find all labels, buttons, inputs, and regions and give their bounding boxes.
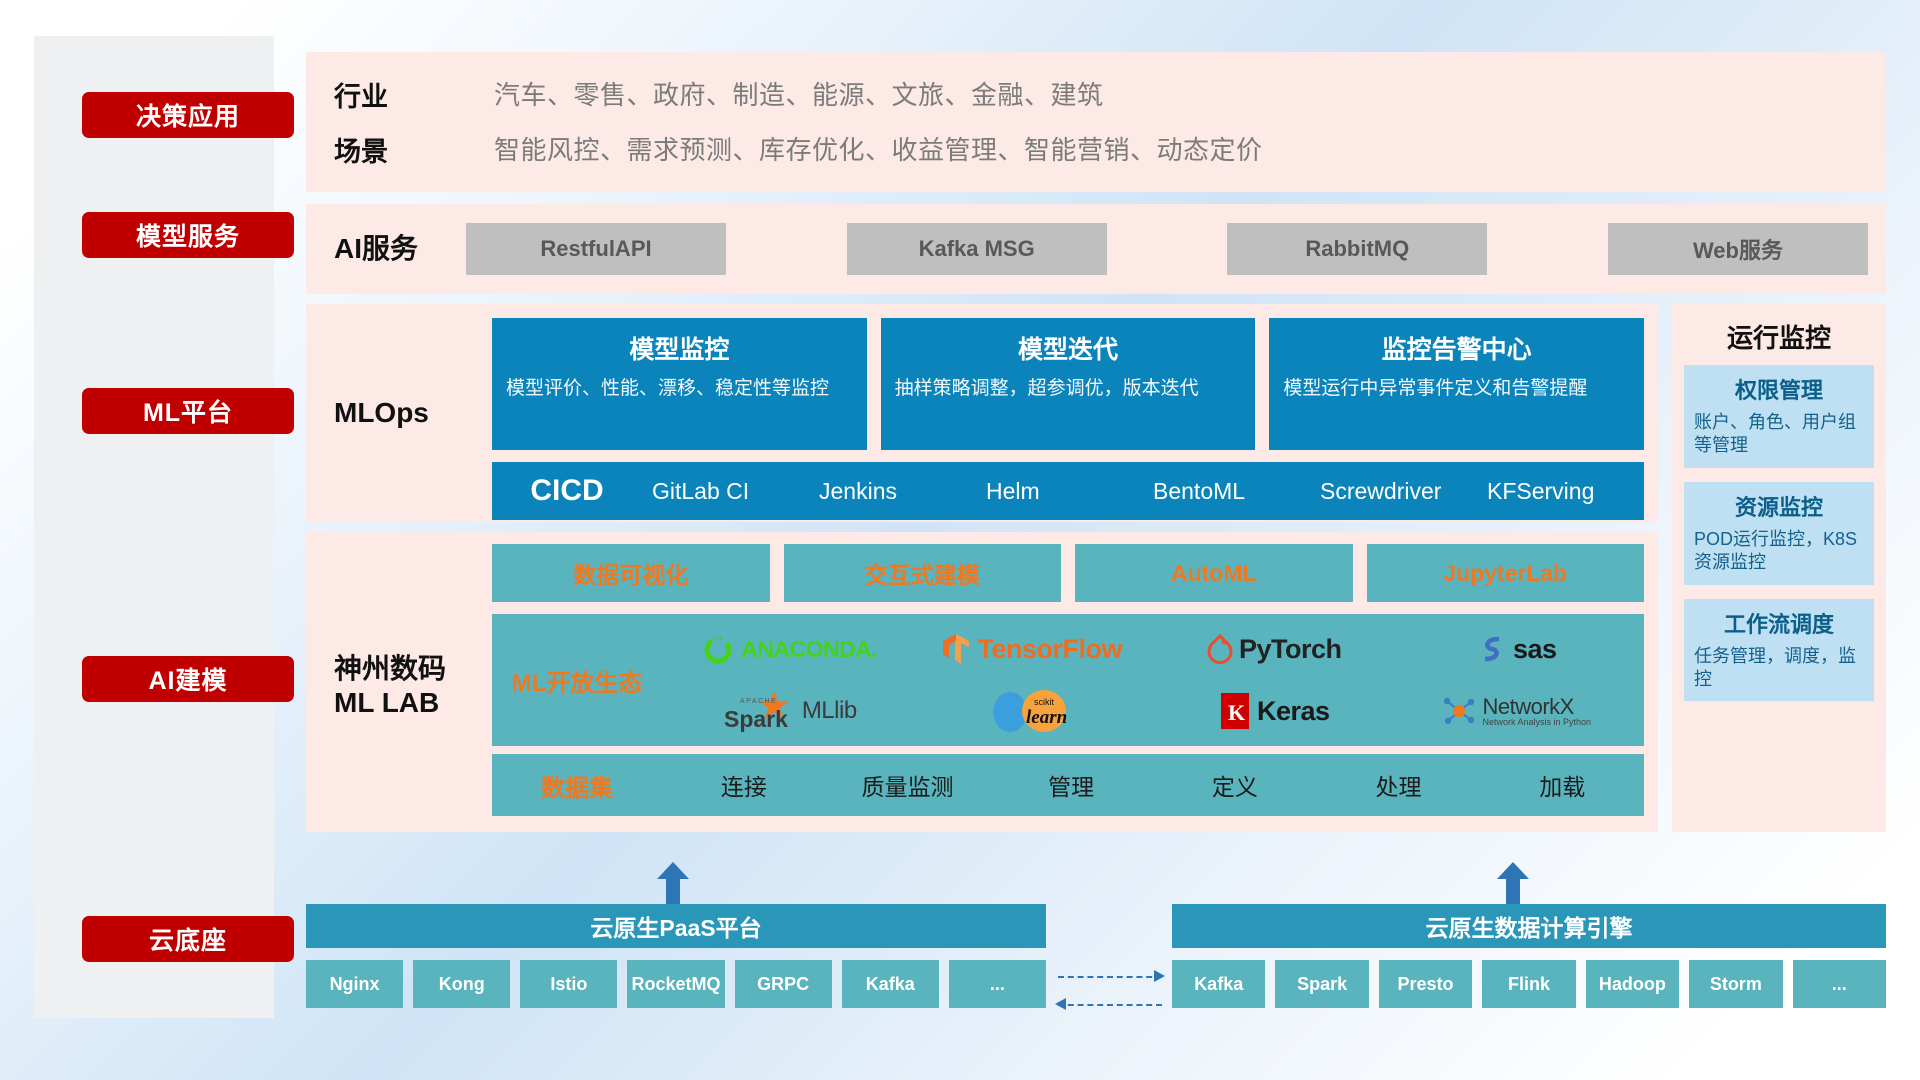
stage-chip-cloudbase[interactable]: 云底座 (82, 916, 294, 962)
engine-tag-kafka[interactable]: Kafka (1172, 960, 1265, 1008)
arrow-up-paas-icon (656, 862, 690, 904)
paas-tag-kafka[interactable]: Kafka (842, 960, 939, 1008)
arrow-up-engine-icon (1496, 862, 1530, 904)
paas-tag-kong[interactable]: Kong (413, 960, 510, 1008)
anaconda-icon (701, 632, 735, 666)
card-desc: 模型评价、性能、漂移、稳定性等监控 (506, 376, 853, 402)
svg-text:APACHE: APACHE (740, 698, 777, 705)
card-desc: 模型运行中异常事件定义和告警提醒 (1283, 376, 1630, 402)
arrowhead-right-icon (1154, 970, 1166, 982)
band-ml-lab: 神州数码 ML LAB 数据可视化 交互式建模 AutoML JupyterLa… (306, 532, 1658, 832)
card-title: 资源监控 (1694, 490, 1864, 522)
sas-logo: sas (1477, 633, 1557, 665)
mlops-card-alert-center[interactable]: 监控告警中心 模型运行中异常事件定义和告警提醒 (1269, 318, 1644, 450)
paas-tag-istio[interactable]: Istio (520, 960, 617, 1008)
cloud-paas-bar[interactable]: 云原生PaaS平台 (306, 904, 1046, 948)
engine-tag-flink[interactable]: Flink (1482, 960, 1575, 1008)
tensorflow-text: TensorFlow (977, 634, 1122, 665)
monitor-card-workflow[interactable]: 工作流调度 任务管理，调度，监控 (1684, 599, 1874, 702)
lab-chip-automl[interactable]: AutoML (1075, 544, 1353, 602)
networkx-text: NetworkX (1482, 696, 1591, 718)
card-desc: 抽样策略调整，超参调优，版本迭代 (895, 376, 1242, 402)
scikit-learn-icon: scikit learn (986, 688, 1078, 734)
industry-key: 行业 (334, 75, 494, 114)
monitor-card-permission[interactable]: 权限管理 账户、角色、用户组等管理 (1684, 365, 1874, 468)
service-web[interactable]: Web服务 (1608, 223, 1868, 275)
cicd-bar: CICD GitLab CI Jenkins Helm BentoML Scre… (492, 462, 1644, 520)
cicd-item-kfserving[interactable]: KFServing (1477, 479, 1644, 503)
dataset-item-manage[interactable]: 管理 (989, 768, 1153, 802)
band-mlops: MLOps 模型监控 模型评价、性能、漂移、稳定性等监控 模型迭代 抽样策略调整… (306, 304, 1658, 522)
engine-tag-storm[interactable]: Storm (1689, 960, 1782, 1008)
engine-tag-presto[interactable]: Presto (1379, 960, 1472, 1008)
runtime-monitoring-column: 运行监控 权限管理 账户、角色、用户组等管理 资源监控 POD运行监控，K8S资… (1672, 304, 1886, 832)
svg-text:learn: learn (1026, 707, 1067, 728)
dataset-item-load[interactable]: 加载 (1480, 768, 1644, 802)
paas-tag-grpc[interactable]: GRPC (735, 960, 832, 1008)
tensorflow-logo: TensorFlow (941, 632, 1122, 666)
band-industry-scenario: 行业 汽车、零售、政府、制造、能源、文旅、金融、建筑 场景 智能风控、需求预测、… (306, 52, 1886, 192)
mlops-card-model-monitoring[interactable]: 模型监控 模型评价、性能、漂移、稳定性等监控 (492, 318, 867, 450)
card-title: 模型迭代 (895, 330, 1242, 366)
keras-logo: K Keras (1219, 691, 1330, 731)
svg-text:Spark: Spark (724, 706, 788, 732)
engine-tag-spark[interactable]: Spark (1275, 960, 1368, 1008)
lab-chip-data-viz[interactable]: 数据可视化 (492, 544, 770, 602)
engine-tag-row: Kafka Spark Presto Flink Hadoop Storm ..… (1172, 960, 1886, 1008)
pytorch-logo: PyTorch (1207, 633, 1342, 665)
spark-icon: APACHE Spark (722, 689, 796, 733)
networkx-icon (1442, 694, 1476, 728)
card-desc: POD运行监控，K8S资源监控 (1694, 528, 1864, 575)
dataset-item-quality[interactable]: 质量监测 (826, 768, 990, 802)
spark-mllib-logo: APACHE Spark MLlib (722, 689, 857, 733)
keras-text: Keras (1257, 696, 1330, 727)
ai-service-label: AI服务 (306, 232, 466, 266)
paas-tag-row: Nginx Kong Istio RocketMQ GRPC Kafka ... (306, 960, 1046, 1008)
cicd-item-jenkins[interactable]: Jenkins (809, 479, 976, 503)
dataset-item-process[interactable]: 处理 (1317, 768, 1481, 802)
service-kafka-msg[interactable]: Kafka MSG (847, 223, 1107, 275)
svg-text:K: K (1228, 700, 1245, 725)
dataset-item-define[interactable]: 定义 (1153, 768, 1317, 802)
cloud-base-section: 云原生PaaS平台 云原生数据计算引擎 Nginx Kong Istio Roc… (306, 880, 1886, 1030)
cicd-title: CICD (492, 474, 642, 508)
ecosystem-title: ML开放生态 (492, 663, 662, 698)
pytorch-icon (1207, 633, 1233, 665)
anaconda-text: ANACONDA. (741, 636, 877, 663)
cloud-engine-bar[interactable]: 云原生数据计算引擎 (1172, 904, 1886, 948)
tensorflow-icon (941, 632, 971, 666)
service-rabbitmq[interactable]: RabbitMQ (1227, 223, 1487, 275)
paas-tag-more[interactable]: ... (949, 960, 1046, 1008)
lab-chip-jupyterlab[interactable]: JupyterLab (1367, 544, 1645, 602)
ml-ecosystem-panel: ML开放生态 ANACONDA. TensorFlow (492, 614, 1644, 746)
engine-tag-more[interactable]: ... (1793, 960, 1886, 1008)
band-ai-service: AI服务 RestfulAPI Kafka MSG RabbitMQ Web服务 (306, 204, 1886, 294)
engine-tag-hadoop[interactable]: Hadoop (1586, 960, 1679, 1008)
card-title: 监控告警中心 (1283, 330, 1630, 366)
sas-text: sas (1513, 634, 1557, 665)
stage-chip-modelsvc[interactable]: 模型服务 (82, 212, 294, 258)
card-desc: 任务管理，调度，监控 (1694, 645, 1864, 692)
scenario-value: 智能风控、需求预测、库存优化、收益管理、智能营销、动态定价 (494, 130, 1886, 169)
cicd-item-bentoml[interactable]: BentoML (1143, 479, 1310, 503)
card-title: 工作流调度 (1694, 607, 1864, 639)
paas-tag-rocketmq[interactable]: RocketMQ (627, 960, 724, 1008)
card-title: 模型监控 (506, 330, 853, 366)
sas-icon (1477, 633, 1507, 665)
monitor-card-resource[interactable]: 资源监控 POD运行监控，K8S资源监控 (1684, 482, 1874, 585)
paas-tag-nginx[interactable]: Nginx (306, 960, 403, 1008)
card-desc: 账户、角色、用户组等管理 (1694, 411, 1864, 458)
networkx-subtitle: Network Analysis in Python (1482, 718, 1591, 727)
stage-chip-decision[interactable]: 决策应用 (82, 92, 294, 138)
lab-chip-interactive[interactable]: 交互式建模 (784, 544, 1062, 602)
arrowhead-left-icon (1054, 998, 1066, 1010)
stage-chip-mlplatform[interactable]: ML平台 (82, 388, 294, 434)
scikit-learn-logo: scikit learn (986, 688, 1078, 734)
runtime-monitoring-title: 运行监控 (1672, 304, 1886, 365)
mlops-label: MLOps (334, 396, 429, 430)
cicd-item-gitlab[interactable]: GitLab CI (642, 479, 809, 503)
dataset-item-connect[interactable]: 连接 (662, 768, 826, 802)
cicd-item-helm[interactable]: Helm (976, 479, 1143, 503)
card-title: 权限管理 (1694, 373, 1864, 405)
stage-rail: 决策应用 模型服务 ML平台 AI建模 云底座 (34, 36, 274, 1018)
pytorch-text: PyTorch (1239, 634, 1342, 665)
cicd-item-screwdriver[interactable]: Screwdriver (1310, 479, 1477, 503)
networkx-logo: NetworkX Network Analysis in Python (1442, 694, 1591, 728)
ml-lab-label: 神州数码 ML LAB (334, 652, 446, 720)
dataset-bar: 数据集 连接 质量监测 管理 定义 处理 加载 (492, 754, 1644, 816)
industry-value: 汽车、零售、政府、制造、能源、文旅、金融、建筑 (494, 75, 1886, 114)
mllib-text: MLlib (802, 697, 857, 725)
service-restfulapi[interactable]: RestfulAPI (466, 223, 726, 275)
mlops-card-model-iteration[interactable]: 模型迭代 抽样策略调整，超参调优，版本迭代 (881, 318, 1256, 450)
keras-icon: K (1219, 691, 1251, 731)
svg-text:scikit: scikit (1034, 697, 1054, 707)
anaconda-logo: ANACONDA. (701, 632, 877, 666)
dataset-title: 数据集 (492, 768, 662, 803)
stage-chip-aimodeling[interactable]: AI建模 (82, 656, 294, 702)
scenario-key: 场景 (334, 130, 494, 169)
